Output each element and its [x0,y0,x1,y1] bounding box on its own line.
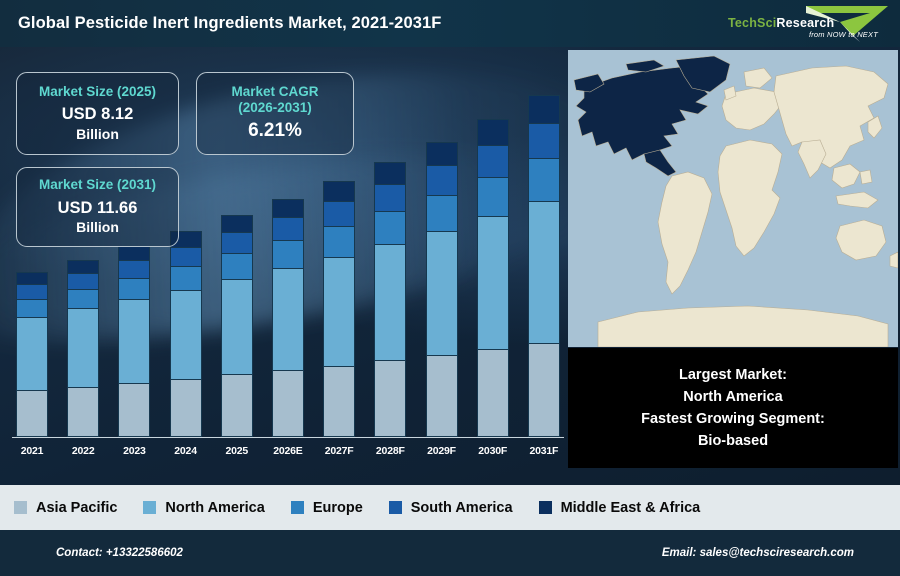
bar-segment [323,366,355,437]
bar-segment [221,279,253,375]
techsci-research-logo: TechSciResearch from NOW to NEXT [720,2,892,45]
bar-segment [16,299,48,317]
bar-segment [67,273,99,289]
bar-segment [272,370,304,437]
bar-segment [374,184,406,211]
bar-segment [170,290,202,379]
bar-column [528,77,560,437]
bar-segment [118,299,150,383]
legend-swatch [539,501,552,514]
legend-item: Middle East & Africa [539,500,701,516]
bar-segment [528,343,560,437]
bar-segment [67,260,99,273]
legend-label: Asia Pacific [36,500,117,516]
legend-item: Asia Pacific [14,500,117,516]
bar-column [374,77,406,437]
bar-segment [426,355,458,437]
x-axis-label: 2030F [477,445,509,457]
stat-title: Market Size (2025) [39,84,156,100]
bar-segment [426,231,458,355]
bar-segment [323,226,355,257]
stat-box-market-size-2031: Market Size (2031) USD 11.66 Billion [16,167,179,247]
bar-segment [67,387,99,437]
bar-segment [16,284,48,299]
x-axis-label: 2031F [528,445,560,457]
legend-item: North America [143,500,264,516]
bar-segment [528,123,560,158]
footer-contact: Contact: +13322586602 [56,547,183,559]
bar-segment [221,232,253,253]
bar-segment [118,246,150,260]
bar-segment [477,177,509,216]
logo-tagline: from NOW to NEXT [809,30,878,39]
world-map [568,50,898,347]
legend-swatch [14,501,27,514]
bar-segment [374,211,406,244]
bar-segment [528,158,560,201]
bar-segment [118,260,150,278]
bar-column [477,77,509,437]
legend-item: Europe [291,500,363,516]
infographic-root: Global Pesticide Inert Ingredients Marke… [0,0,900,576]
footer-email: Email: sales@techsciresearch.com [662,547,854,559]
legend-label: North America [165,500,264,516]
logo-text-research: Research [776,16,834,30]
bar-segment [118,278,150,299]
chart-legend: Asia PacificNorth AmericaEuropeSouth Ame… [0,485,900,530]
chart-x-axis-labels: 202120222023202420252026E2027F2028F2029F… [16,441,560,461]
bar-segment [221,374,253,437]
legend-label: Europe [313,500,363,516]
x-axis-label: 2021 [16,445,48,457]
stat-value: USD 8.12 [62,104,134,125]
bar-segment [272,240,304,268]
page-title: Global Pesticide Inert Ingredients Marke… [18,14,441,33]
x-axis-label: 2027F [323,445,355,457]
bar-segment [477,349,509,437]
map-region-philippines [860,170,872,184]
info-largest-market-value: North America [683,386,782,408]
bar-segment [374,162,406,184]
x-axis-label: 2023 [118,445,150,457]
stat-box-market-cagr: Market CAGR (2026-2031) 6.21% [196,72,354,155]
stat-box-market-size-2025: Market Size (2025) USD 8.12 Billion [16,72,179,155]
x-axis-label: 2022 [67,445,99,457]
bar-segment [374,360,406,437]
stat-unit: Billion [76,126,119,144]
bar-segment [323,201,355,226]
info-largest-market-label: Largest Market: [679,364,787,386]
x-axis-label: 2024 [170,445,202,457]
header-bar: Global Pesticide Inert Ingredients Marke… [0,0,900,47]
logo-wordmark: TechSciResearch [728,16,834,30]
bar-segment [528,95,560,123]
legend-label: Middle East & Africa [561,500,701,516]
bar-segment [426,195,458,231]
bar-segment [528,201,560,343]
legend-label: South America [411,500,513,516]
bar-segment [170,379,202,437]
bar-segment [272,268,304,370]
bar-segment [374,244,406,360]
bar-segment [221,215,253,232]
bar-segment [16,317,48,390]
footer-bar: Contact: +13322586602 Email: sales@techs… [0,530,900,576]
stat-subtitle: (2026-2031) [238,100,312,116]
legend-item: South America [389,500,513,516]
legend-swatch [389,501,402,514]
world-map-svg [568,50,898,347]
bar-segment [323,181,355,201]
stat-value: 6.21% [248,119,302,144]
bar-segment [16,272,48,284]
bar-column [426,77,458,437]
bar-segment [67,308,99,386]
bar-segment [170,247,202,266]
stat-title: Market CAGR [231,84,318,100]
info-fastest-segment-label: Fastest Growing Segment: [641,408,825,430]
bar-segment [272,199,304,217]
bar-segment [426,142,458,166]
bar-segment [477,145,509,177]
x-axis-label: 2026E [272,445,304,457]
bar-segment [477,216,509,349]
bar-segment [221,253,253,279]
legend-swatch [291,501,304,514]
bar-segment [67,289,99,309]
x-axis-label: 2029F [426,445,458,457]
bar-segment [323,257,355,366]
x-axis-label: 2028F [374,445,406,457]
info-fastest-segment-value: Bio-based [698,430,768,452]
bar-segment [426,165,458,194]
info-box: Largest Market: North America Fastest Gr… [568,348,898,468]
legend-swatch [143,501,156,514]
stat-title: Market Size (2031) [39,177,156,193]
bar-segment [16,390,48,437]
bar-segment [477,119,509,145]
bar-segment [118,383,150,437]
stat-unit: Billion [76,219,119,237]
logo-text-tech: TechSci [728,16,776,30]
bar-segment [170,266,202,290]
chart-x-axis [12,437,564,438]
bar-segment [272,217,304,240]
stat-value: USD 11.66 [58,198,138,219]
x-axis-label: 2025 [221,445,253,457]
